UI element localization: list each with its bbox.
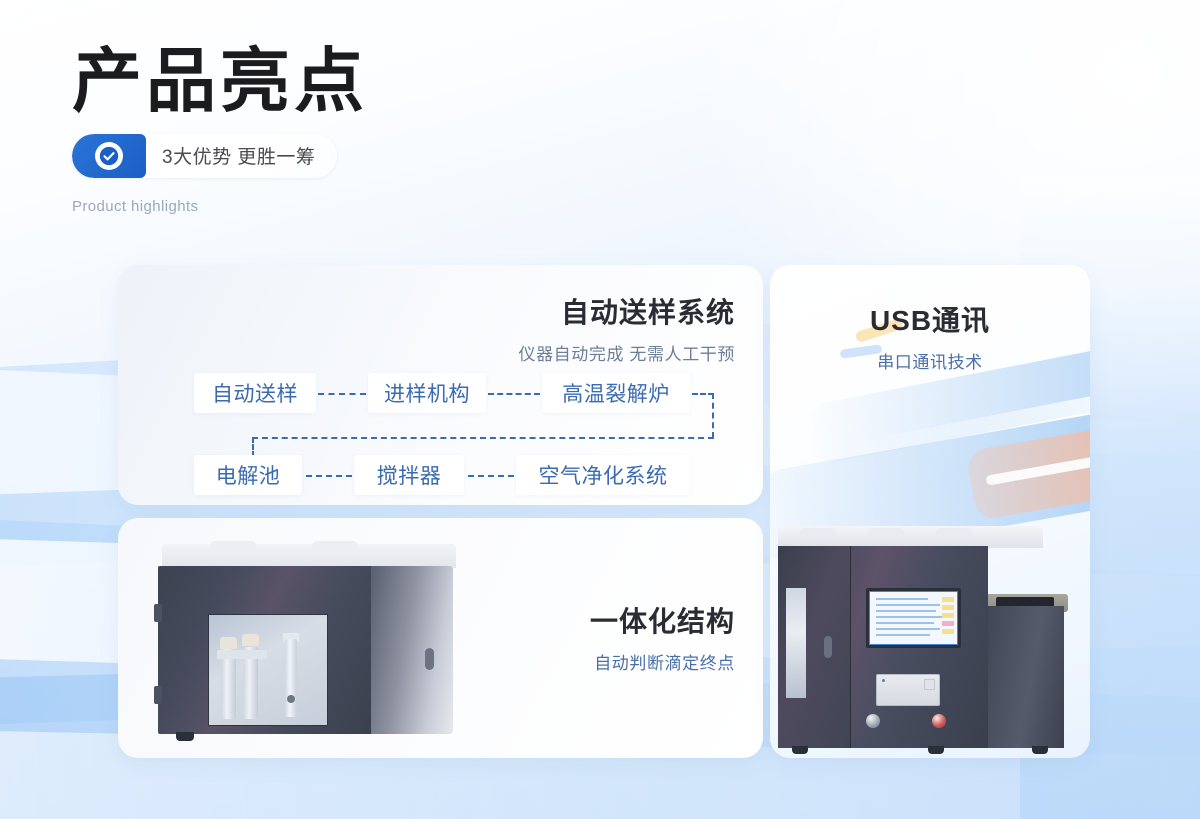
flow-connector-4 [468, 475, 514, 477]
instrument-main-body [158, 566, 373, 734]
deco-white-swoosh [830, 384, 1090, 476]
instrument-hinge-upper [154, 604, 162, 622]
card-usb-communication[interactable]: USB通讯 串口通讯技术 [770, 265, 1090, 758]
flow-connector-2 [488, 393, 540, 395]
instrument-side-view-image [158, 544, 458, 736]
deco-peach-swoosh [965, 419, 1090, 521]
instrument-vial-cap-2 [242, 634, 259, 646]
card-integrated-structure[interactable]: 一体化结构 自动判断滴定终点 [118, 518, 763, 758]
flow-connector-3 [306, 475, 352, 477]
instrument-door-handle [425, 648, 434, 670]
deco-peach-highlight [985, 446, 1090, 485]
page-subtitle-en: Product highlights [72, 198, 368, 215]
flow-chip-auto-sampling[interactable]: 自动送样 [194, 373, 316, 413]
instrument-flowmeter [285, 639, 297, 717]
badge-icon-panel [72, 134, 146, 178]
usb-left-door [778, 546, 851, 748]
instrument-vial-cap-1 [220, 637, 237, 649]
card-usb-head: USB通讯 串口通讯技术 [770, 299, 1090, 373]
usb-instrument-top-cover [778, 526, 1043, 548]
usb-lcd-screen[interactable] [866, 588, 961, 648]
flow-connector-elbow-right [712, 393, 714, 438]
flow-connector-1 [318, 393, 366, 395]
usb-foot-right [928, 746, 944, 754]
instrument-front-view-image [770, 518, 1090, 758]
flow-connector-elbow-left [252, 437, 254, 457]
usb-power-button[interactable] [866, 714, 880, 728]
flow-chip-injection-mechanism[interactable]: 进样机构 [368, 373, 486, 413]
instrument-right-panel [371, 566, 453, 734]
flow-chip-pyrolysis-furnace[interactable]: 高温裂解炉 [542, 373, 690, 413]
usb-lcd-content [869, 591, 958, 645]
flow-chip-electrolytic-cell[interactable]: 电解池 [194, 455, 302, 495]
usb-top-knob-3 [936, 528, 972, 538]
usb-foot-left [792, 746, 808, 754]
card-auto-sampler-subtitle: 仪器自动完成 无需人工干预 [518, 340, 735, 365]
card-integrated-structure-head: 一体化结构 自动判断滴定终点 [590, 600, 735, 674]
card-integrated-structure-subtitle: 自动判断滴定终点 [590, 649, 735, 674]
check-circle-icon [95, 142, 123, 170]
usb-door-window [786, 588, 806, 698]
card-auto-sampler-title: 自动送样系统 [518, 291, 735, 331]
card-auto-sampler[interactable]: 自动送样系统 仪器自动完成 无需人工干预 自动送样 进样机构 高温裂解炉 电解池… [118, 265, 763, 505]
usb-top-knob-1 [800, 528, 836, 538]
usb-side-module [986, 606, 1064, 748]
flow-connector-elbow-bottom [252, 437, 714, 439]
highlights-badge: 3大优势 更胜一筹 [72, 134, 337, 178]
usb-side-foot [1032, 746, 1048, 754]
badge-label: 3大优势 更胜一筹 [146, 134, 337, 178]
card-auto-sampler-head: 自动送样系统 仪器自动完成 无需人工干预 [518, 291, 735, 365]
flow-chip-stirrer[interactable]: 搅拌器 [354, 455, 464, 495]
card-usb-title: USB通讯 [770, 299, 1090, 339]
page-title: 产品亮点 [72, 46, 368, 120]
instrument-top-cover [162, 544, 456, 568]
page-header: 产品亮点 3大优势 更胜一筹 Product highlights [72, 46, 368, 215]
usb-stop-button[interactable] [932, 714, 946, 728]
instrument-hinge-lower [154, 686, 162, 704]
instrument-flowmeter-float [287, 695, 295, 703]
usb-instrument-body [778, 546, 988, 748]
instrument-view-window [208, 614, 328, 726]
process-flow-diagram: 自动送样 进样机构 高温裂解炉 电解池 搅拌器 空气净化系统 [118, 373, 763, 503]
flow-chip-air-purification[interactable]: 空气净化系统 [516, 455, 690, 495]
flow-connector-elbow-top [692, 393, 714, 395]
usb-top-knob-2 [868, 528, 904, 538]
usb-printer-slot[interactable] [876, 674, 940, 706]
usb-door-handle [824, 636, 832, 658]
instrument-vial-bracket [217, 650, 267, 659]
card-integrated-structure-title: 一体化结构 [590, 600, 735, 640]
instrument-foot-left [176, 732, 194, 741]
card-usb-subtitle: 串口通讯技术 [770, 348, 1090, 373]
